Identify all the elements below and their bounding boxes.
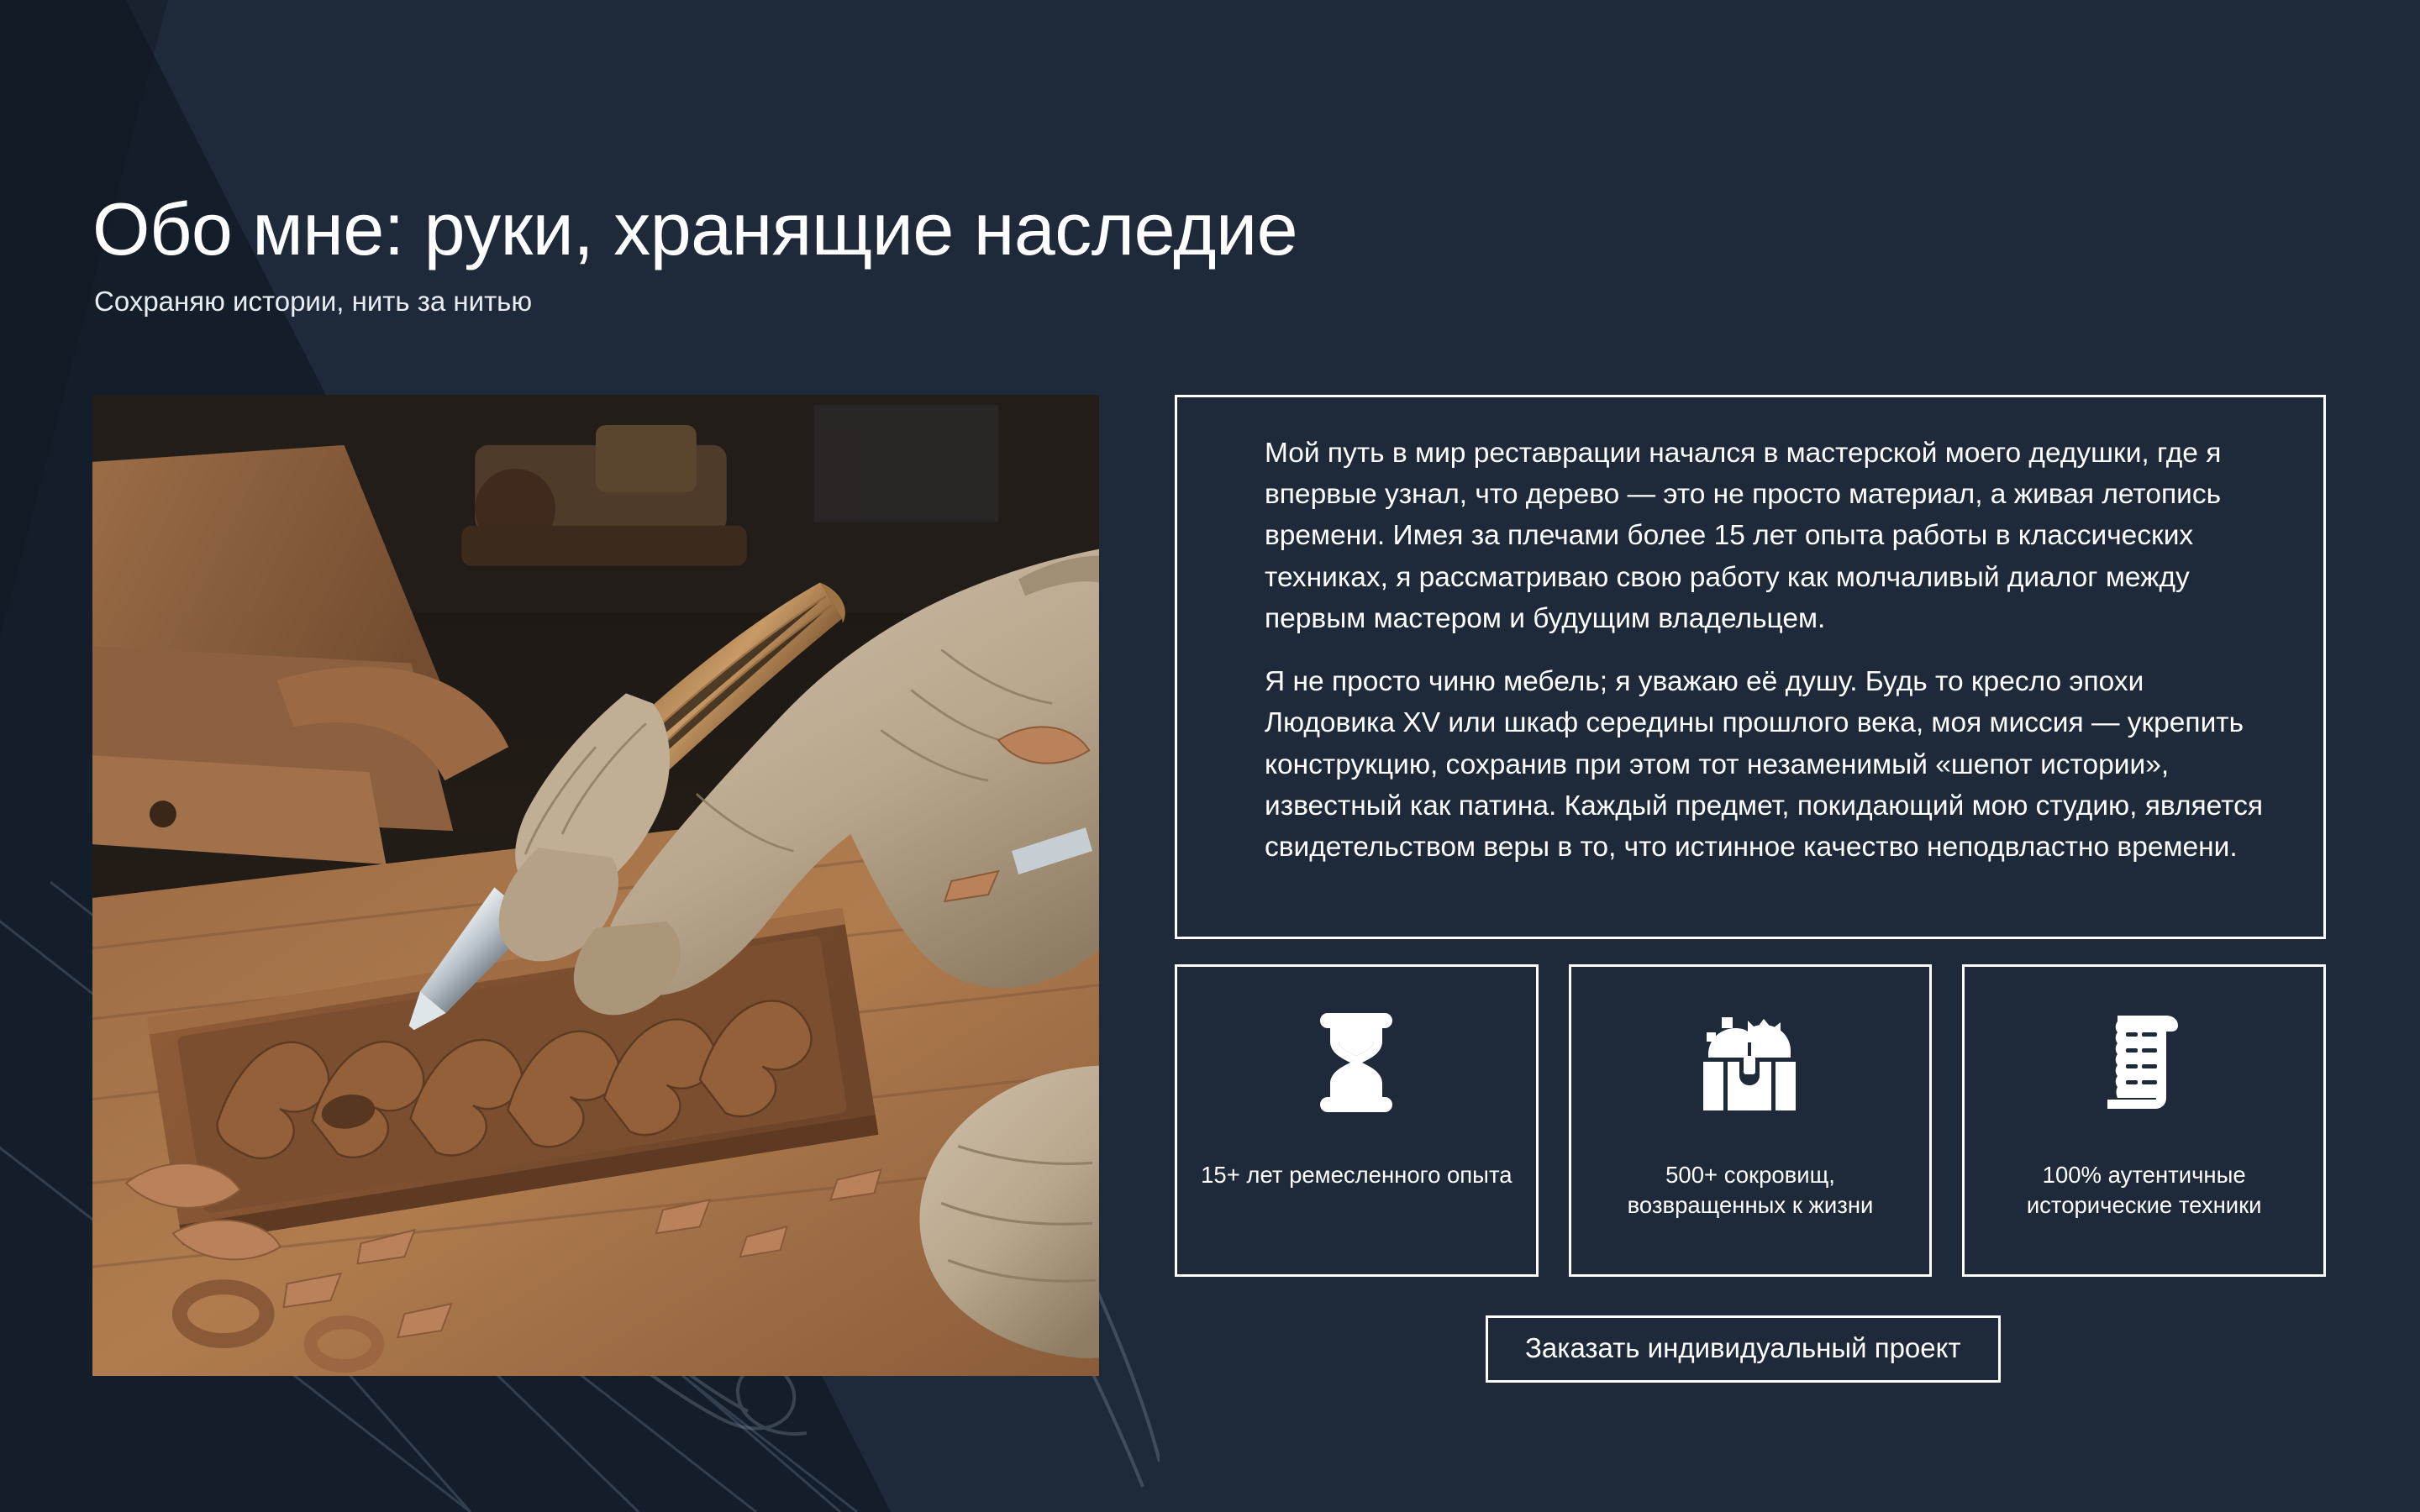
page-subtitle: Сохраняю истории, нить за нитью <box>94 286 532 318</box>
stat-card-restored[interactable]: 500+ сокровищ, возвращенных к жизни <box>1569 964 1933 1277</box>
bio-text-panel: Мой путь в мир реставрации начался в мас… <box>1175 395 2326 939</box>
bio-paragraph-1: Мой путь в мир реставрации начался в мас… <box>1265 433 2268 639</box>
stat-card-experience[interactable]: 15+ лет ремесленного опыта <box>1175 964 1539 1277</box>
hourglass-icon <box>1306 1004 1407 1121</box>
stat-card-label: 500+ сокровищ, возвращенных к жизни <box>1571 1160 1930 1221</box>
stat-card-label: 100% аутентичные исторические техники <box>1965 1160 2323 1221</box>
slide-about-me: Обо мне: руки, хранящие наследие Сохраня… <box>0 0 2420 1512</box>
stat-cards: 15+ лет ремесленного опыта 500+ сокровищ… <box>1175 964 2326 1277</box>
craftsman-photo-illustration <box>92 395 1099 1376</box>
craftsman-photo <box>92 395 1099 1376</box>
treasure-chest-icon <box>1700 1004 1801 1121</box>
bio-paragraph-2: Я не просто чиню мебель; я уважаю её душ… <box>1265 661 2268 868</box>
order-custom-project-button[interactable]: Заказать индивидуальный проект <box>1486 1315 2001 1383</box>
scroll-icon <box>2094 1004 2195 1121</box>
stat-card-authentic[interactable]: 100% аутентичные исторические техники <box>1962 964 2326 1277</box>
stat-card-label: 15+ лет ремесленного опыта <box>1187 1160 1525 1190</box>
page-title: Обо мне: руки, хранящие наследие <box>92 191 1297 268</box>
